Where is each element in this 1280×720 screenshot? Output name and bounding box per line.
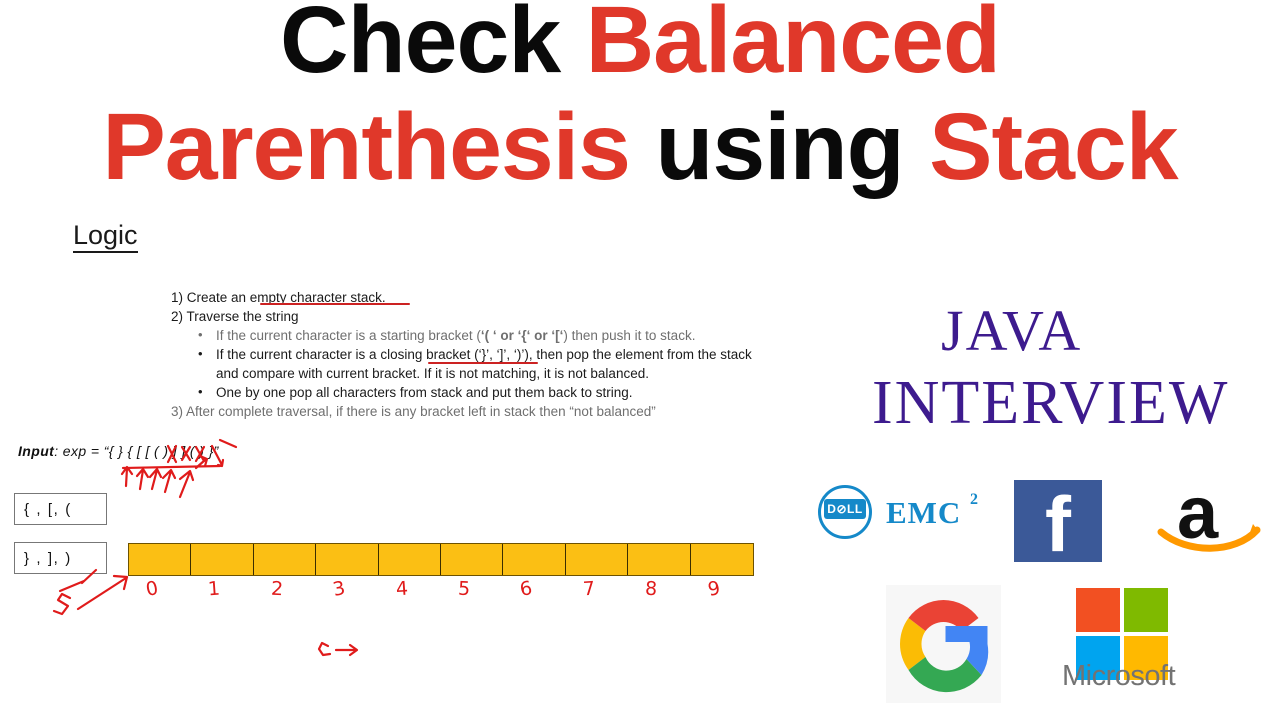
stack-array-index-label: 1	[208, 578, 222, 601]
stack-array-index-label: 7	[582, 578, 596, 601]
stack-array-cell[interactable]	[191, 544, 253, 575]
stack-array-cell[interactable]	[566, 544, 628, 575]
title-word-parenthesis: Parenthesis	[102, 94, 655, 200]
bullet-glyph-icon: •	[198, 344, 203, 363]
logic-bullet-1-pre: If the current character is a starting b…	[216, 328, 481, 343]
stack-array-index-label: 4	[395, 578, 409, 601]
slide-canvas: Check Balanced Parenthesis using Stack L…	[0, 0, 1280, 720]
bullet-glyph-icon: •	[198, 325, 203, 344]
facebook-logo: f	[1014, 480, 1102, 562]
closing-brackets-box: } , ], )	[14, 542, 107, 574]
google-logo	[886, 585, 1001, 703]
opening-brackets-box: { , [, (	[14, 493, 107, 525]
dell-emc-logo: D⊘LL EMC 2	[812, 481, 1004, 543]
microsoft-logo: Microsoft	[1076, 588, 1196, 692]
branding-interview: INTERVIEW	[872, 368, 1229, 439]
logic-bullet-3-text: One by one pop all characters from stack…	[216, 385, 632, 400]
logic-bullet-2-continued: and compare with current bracket. If it …	[171, 364, 911, 383]
redline-closing-bracket	[428, 362, 538, 364]
branding-java: JAVA	[941, 297, 1082, 364]
logic-steps: 1) Create an empty character stack. 2) T…	[171, 288, 911, 421]
stack-array-indices: 0123456789	[128, 578, 753, 614]
stack-array-index-label: 8	[645, 578, 658, 601]
emc-superscript: 2	[970, 491, 978, 509]
logic-bullet-1-bold: ‘( ‘ or ‘{‘ or ‘[‘	[481, 328, 564, 343]
logic-bullet-1: •If the current character is a starting …	[171, 326, 911, 345]
stack-array-cell[interactable]	[691, 544, 753, 575]
facebook-f-icon: f	[1014, 480, 1102, 562]
stack-array-cell[interactable]	[441, 544, 503, 575]
stack-array-index-label: 3	[331, 577, 347, 601]
microsoft-square-red-icon	[1076, 588, 1120, 632]
slide-title: Check Balanced Parenthesis using Stack	[0, 0, 1280, 194]
stack-array-index-label: 9	[706, 577, 722, 601]
emc-wordmark: EMC	[886, 495, 961, 531]
title-word-stack: Stack	[929, 94, 1178, 200]
amazon-a-icon: a	[1177, 470, 1218, 555]
stack-array-cell[interactable]	[379, 544, 441, 575]
logic-step-2: 2) Traverse the string	[171, 307, 911, 326]
redline-empty-character-stack	[260, 303, 410, 305]
microsoft-square-green-icon	[1124, 588, 1168, 632]
logic-heading: Logic	[73, 221, 138, 253]
google-g-icon	[886, 585, 1001, 703]
input-value: : exp = “{ } { [ [ ( ) ] ] ( ) }”	[54, 443, 219, 459]
stack-array-index-label: 0	[144, 577, 160, 601]
logic-step-3: 3) After complete traversal, if there is…	[171, 402, 911, 421]
stack-array-index-label: 5	[457, 578, 470, 601]
input-expression: Input: exp = “{ } { [ [ ( ) ] ] ( ) }”	[18, 443, 219, 459]
stack-array-index-label: 2	[270, 578, 283, 601]
logic-bullet-2-text: If the current character is a closing br…	[216, 347, 752, 362]
title-word-using: using	[655, 94, 929, 200]
amazon-logo: a	[1157, 482, 1261, 552]
logic-bullet-2: •If the current character is a closing b…	[171, 345, 911, 364]
logic-bullet-1-post: ) then push it to stack.	[563, 328, 695, 343]
stack-array-cell[interactable]	[628, 544, 690, 575]
stack-array-cell[interactable]	[316, 544, 378, 575]
microsoft-wordmark: Microsoft	[1062, 660, 1175, 693]
stack-array-cell[interactable]	[129, 544, 191, 575]
stack-array	[128, 543, 754, 576]
input-label: Input	[18, 443, 54, 459]
title-line-1: Check Balanced	[0, 0, 1280, 87]
bullet-glyph-icon: •	[198, 382, 203, 401]
title-line-2: Parenthesis using Stack	[0, 101, 1280, 194]
logic-bullet-3: •One by one pop all characters from stac…	[171, 383, 911, 402]
stack-array-cell[interactable]	[254, 544, 316, 575]
stack-array-cell[interactable]	[503, 544, 565, 575]
title-word-check: Check	[280, 0, 586, 93]
stack-array-index-label: 6	[518, 577, 534, 601]
dell-wordmark: D⊘LL	[824, 499, 866, 519]
title-word-balanced: Balanced	[586, 0, 1000, 93]
